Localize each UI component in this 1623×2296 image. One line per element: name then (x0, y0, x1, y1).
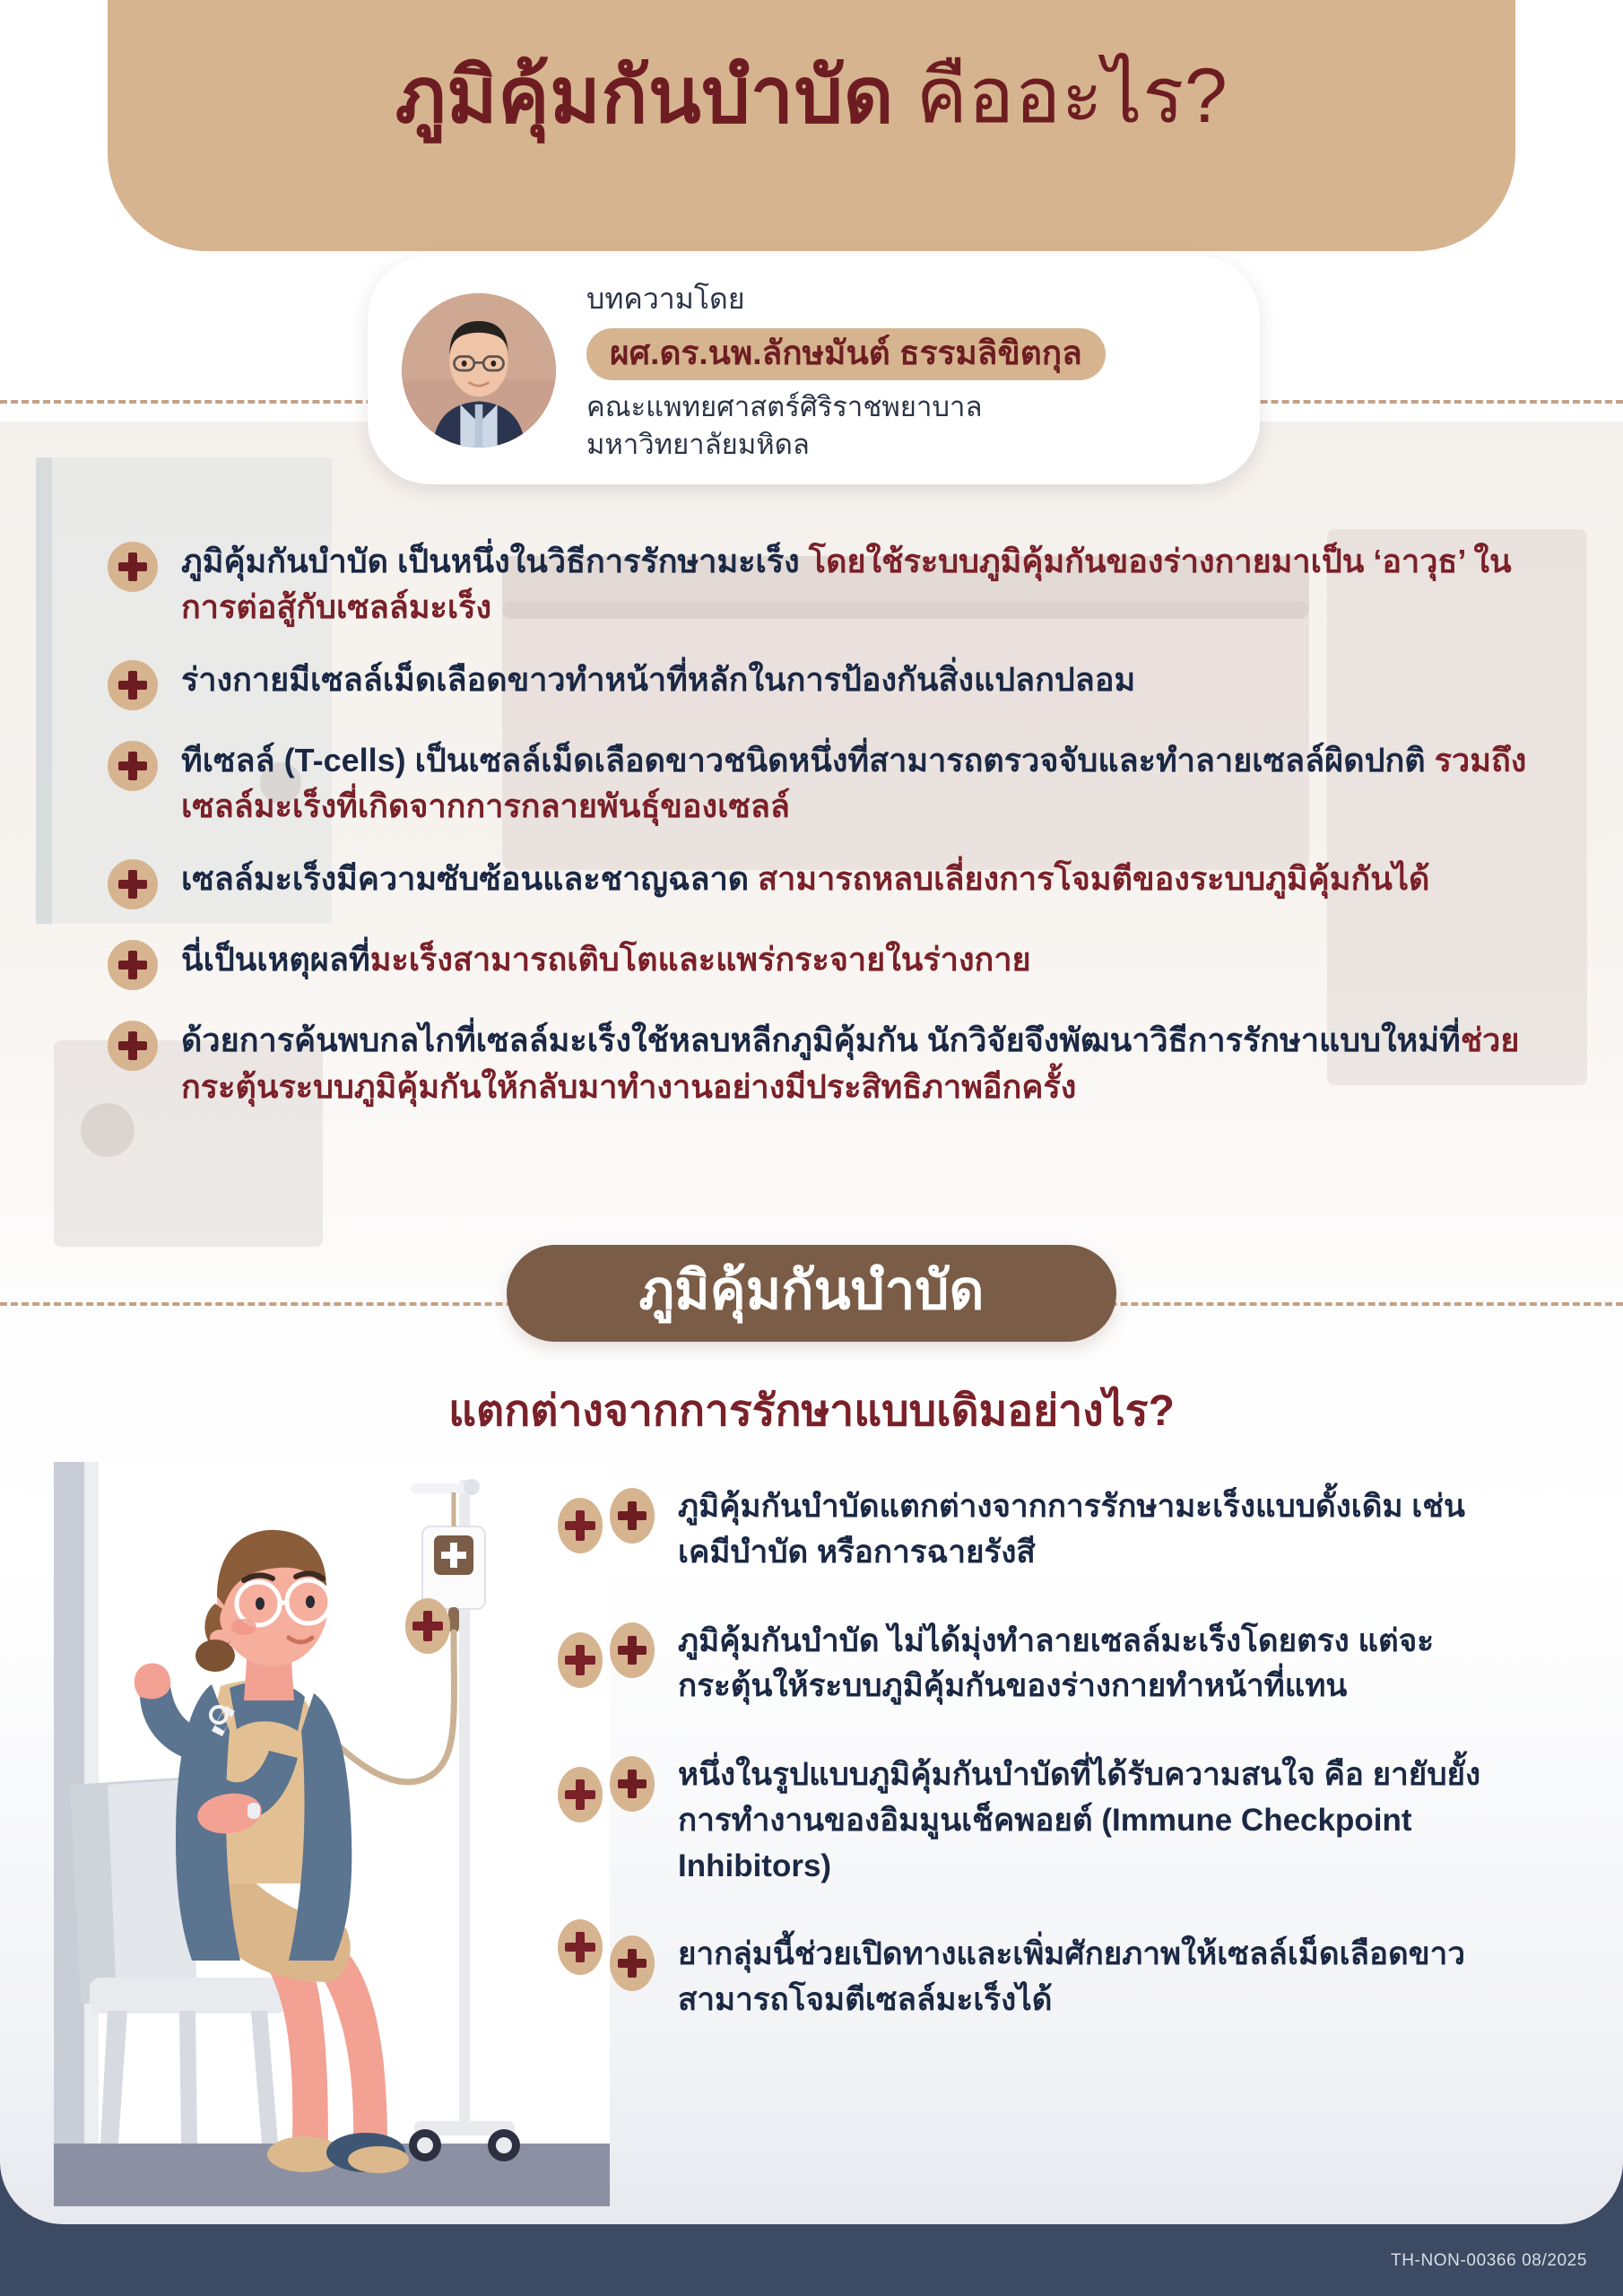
bullet-text: ภูมิคุ้มกันบำบัดแตกต่างจากการรักษามะเร็ง… (678, 1484, 1524, 1576)
author-byline: บทความโดย (586, 276, 1106, 322)
plus-cross-icon (108, 741, 158, 791)
bullet-item: ด้วยการค้นพบกลไกที่เซลล์มะเร็งใช้หลบหลีก… (108, 1017, 1542, 1109)
page-title-bold: ภูมิคุ้มกันบำบัด (395, 53, 894, 139)
author-affiliation-line1: คณะแพทยศาสตร์ศิริราชพยาบาล (586, 388, 1106, 426)
bg-window-stripe (36, 457, 52, 924)
section-banner-label: ภูมิคุ้มกันบำบัด (575, 1261, 1048, 1320)
bullet-item: ยากลุ่มนี้ช่วยเปิดทางและเพิ่มศักยภาพให้เ… (610, 1932, 1524, 2023)
bullet-item: ภูมิคุ้มกันบำบัด เป็นหนึ่งในวิธีการรักษา… (108, 538, 1542, 630)
bullet-text: ยากลุ่มนี้ช่วยเปิดทางและเพิ่มศักยภาพให้เ… (678, 1932, 1524, 2023)
bullet-text: หนึ่งในรูปแบบภูมิคุ้มกันบำบัดที่ได้รับคว… (678, 1752, 1524, 1889)
body-card: ภูมิคุ้มกันบำบัด คืออะไร? (0, 0, 1623, 2224)
author-affiliation-line2: มหาวิทยาลัยมหิดล (586, 426, 1106, 464)
bullet-text: ภูมิคุ้มกันบำบัด ไม่ได้มุ่งทำลายเซลล์มะเ… (678, 1619, 1524, 1710)
plus-cross-icon (610, 1622, 655, 1678)
bullet-text: ร่างกายมีเซลล์เม็ดเลือดขาวทำหน้าที่หลักใ… (181, 657, 1135, 702)
decorative-cross-icon-4 (558, 1767, 603, 1822)
plus-cross-icon (610, 1488, 655, 1544)
plus-cross-icon (108, 542, 158, 592)
bullet-text: นี่เป็นเหตุผลที่มะเร็งสามารถเติบโตและแพร… (181, 936, 1031, 982)
bullet-plain-text: นี่เป็นเหตุผลที่ (181, 941, 370, 978)
plus-cross-icon (610, 1935, 655, 1991)
bullet-item: หนึ่งในรูปแบบภูมิคุ้มกันบำบัดที่ได้รับคว… (610, 1752, 1524, 1889)
bullet-item: ภูมิคุ้มกันบำบัด ไม่ได้มุ่งทำลายเซลล์มะเ… (610, 1619, 1524, 1710)
decorative-cross-icon-5 (558, 1919, 603, 1975)
decorative-cross-icon-3 (558, 1632, 603, 1688)
footer-code: TH-NON-00366 08/2025 (1391, 2251, 1587, 2271)
plus-cross-icon (610, 1756, 655, 1812)
section-banner: ภูมิคุ้มกันบำบัด (507, 1245, 1116, 1342)
bullet-item: ทีเซลล์ (T-cells) เป็นเซลล์เม็ดเลือดขาวช… (108, 737, 1542, 829)
author-card: บทความโดย ผศ.ดร.นพ.ลักษมันต์ ธรรมลิขิตกุ… (368, 256, 1260, 484)
page-title-light: คืออะไร? (916, 53, 1228, 139)
bullet-text: ภูมิคุ้มกันบำบัด เป็นหนึ่งในวิธีการรักษา… (181, 538, 1542, 630)
decorative-cross-icon-2 (558, 1498, 603, 1553)
bullet-text: เซลล์มะเร็งมีความซับซ้อนและชาญฉลาด สามาร… (181, 856, 1429, 901)
plus-cross-icon (108, 1021, 158, 1071)
plus-cross-icon (108, 940, 158, 990)
section-two-bullets: ภูมิคุ้มกันบำบัดแตกต่างจากการรักษามะเร็ง… (610, 1484, 1524, 2066)
bullet-item: ภูมิคุ้มกันบำบัดแตกต่างจากการรักษามะเร็ง… (610, 1484, 1524, 1576)
author-name: ผศ.ดร.นพ.ลักษมันต์ ธรรมลิขิตกุล (586, 328, 1106, 381)
bullet-text: ด้วยการค้นพบกลไกที่เซลล์มะเร็งใช้หลบหลีก… (181, 1017, 1542, 1109)
bullet-item: เซลล์มะเร็งมีความซับซ้อนและชาญฉลาด สามาร… (108, 856, 1542, 909)
bullet-plain-text: ด้วยการค้นพบกลไกที่เซลล์มะเร็งใช้หลบหลีก… (181, 1022, 1461, 1058)
bullet-text: ทีเซลล์ (T-cells) เป็นเซลล์เม็ดเลือดขาวช… (181, 737, 1542, 829)
section-subtitle: แตกต่างจากการรักษาแบบเดิมอย่างไร? (0, 1377, 1623, 1445)
decorative-cross-icon-1 (405, 1598, 450, 1654)
infographic-page: TH-NON-00366 08/2025 ภูมิคุ้มกันบำบัด คื… (0, 0, 1623, 2296)
bullet-plain-text: ร่างกายมีเซลล์เม็ดเลือดขาวทำหน้าที่หลักใ… (181, 661, 1135, 698)
plus-cross-icon (108, 660, 158, 710)
page-title: ภูมิคุ้มกันบำบัด คืออะไร? (0, 54, 1623, 139)
bullet-item: ร่างกายมีเซลล์เม็ดเลือดขาวทำหน้าที่หลักใ… (108, 657, 1542, 710)
bullet-plain-text: เซลล์มะเร็งมีความซับซ้อนและชาญฉลาด (181, 860, 758, 897)
bullet-plain-text: ทีเซลล์ (T-cells) เป็นเซลล์เม็ดเลือดขาวช… (181, 742, 1435, 778)
avatar (402, 293, 556, 448)
author-text-block: บทความโดย ผศ.ดร.นพ.ลักษมันต์ ธรรมลิขิตกุ… (586, 276, 1106, 464)
bullet-plain-text: ภูมิคุ้มกันบำบัด เป็นหนึ่งในวิธีการรักษา… (181, 543, 809, 579)
bullet-emphasis-text: มะเร็งสามารถเติบโตและแพร่กระจายในร่างกาย (370, 941, 1031, 978)
section-one-bullets: ภูมิคุ้มกันบำบัด เป็นหนึ่งในวิธีการรักษา… (108, 538, 1542, 1136)
bullet-item: นี่เป็นเหตุผลที่มะเร็งสามารถเติบโตและแพร… (108, 936, 1542, 990)
bullet-emphasis-text: สามารถหลบเลี่ยงการโจมตีของระบบภูมิคุ้มกั… (758, 860, 1429, 897)
illustration-patient-infusion (54, 1462, 610, 2206)
plus-cross-icon (108, 859, 158, 909)
